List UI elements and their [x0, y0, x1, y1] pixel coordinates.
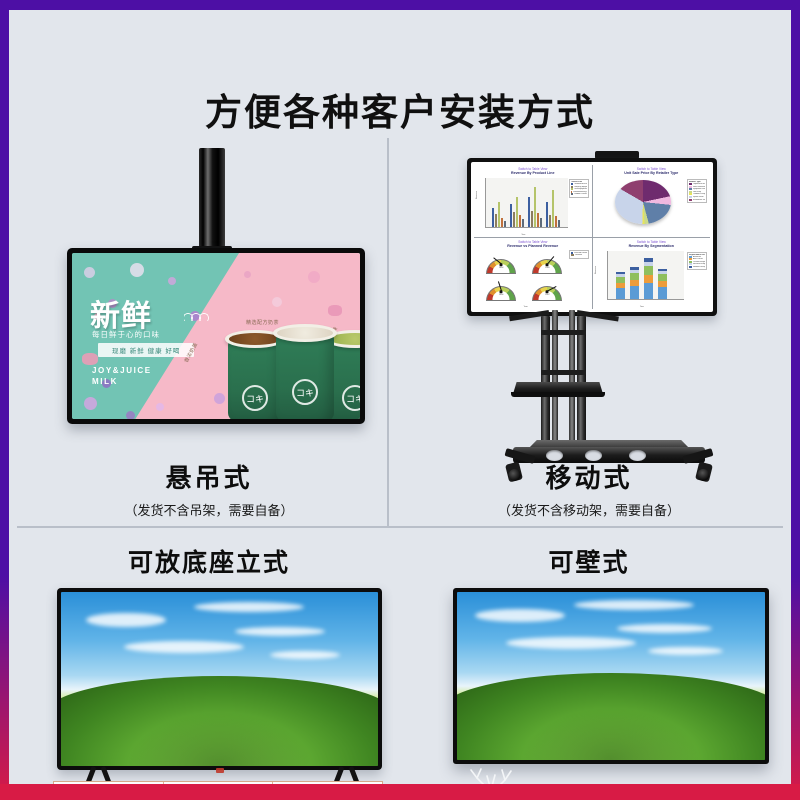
gauge-grid: 2004 2005: [476, 249, 590, 306]
panel-revenue-vs-planned-revenue: Switch to Table View Revenue vs Planned …: [474, 238, 592, 310]
ad-side-note-1: 精选配方奶茶: [246, 319, 279, 326]
cup-logo: コキ: [342, 385, 360, 411]
panel-revenue-by-segmentation: Switch to Table View Revenue By Segmenta…: [593, 238, 711, 310]
cart-crossbar-middle: [541, 370, 586, 375]
cloud-5: [270, 651, 340, 659]
cloud-3: [617, 624, 712, 633]
bar-group: [546, 178, 560, 227]
cloud-2: [574, 600, 694, 610]
x-axis-label-4: Year: [640, 306, 644, 308]
milk-tea-cup: コキ: [228, 341, 282, 419]
legend-label: Southern Europe: [693, 266, 705, 268]
panel-title-1: Revenue By Product Line: [476, 171, 590, 175]
decor-dot-13: [328, 305, 342, 316]
stack-2004: [616, 272, 625, 299]
legend-swatch: [571, 193, 573, 195]
legend-item: Southern Europe: [689, 266, 705, 268]
gauge-hub: [546, 290, 549, 293]
legend-swatch: [571, 254, 574, 256]
cloud-4: [124, 641, 244, 653]
decor-dot-1: [84, 267, 95, 278]
grass-shadow: [124, 710, 314, 766]
label-mobile-cart-note: （发货不含移动架，需要自备）: [409, 500, 769, 519]
wall-mounted-display: [453, 588, 769, 764]
stack-2007: [658, 269, 667, 299]
panel-unit-sale-price-by-retailer-type: Switch to Table View Unit Sale Price By …: [593, 165, 711, 237]
grass-shadow: [519, 706, 704, 760]
cloud-2: [194, 602, 304, 612]
stacked-plot-area: [607, 251, 685, 301]
nature-wallpaper: [457, 592, 765, 760]
gauge-hub: [500, 290, 503, 293]
decor-dot-17: [156, 403, 164, 411]
legend-label: Outdoor Protection: [574, 193, 587, 195]
label-table-stand: 可放底座立式: [59, 543, 359, 579]
decor-dot-16: [126, 411, 135, 419]
cloud-5: [648, 647, 723, 655]
legend-2: Retailer Type Department Store Direct Ma…: [687, 179, 707, 203]
legend-item: Warehouse Store: [689, 199, 705, 201]
segment: [644, 266, 653, 275]
y-axis-label-1: Revenue: [476, 191, 478, 199]
segment: [658, 274, 667, 281]
segment: [630, 273, 639, 280]
legend-3: Planned Revenue Revenue: [569, 250, 589, 259]
legend-4: Segmentation Level 1 Americas Asia Pacif…: [687, 252, 707, 271]
vertical-divider: [387, 138, 389, 526]
bar-chart-1: Revenue Year Product Line Personal Acces…: [476, 176, 590, 233]
bar-chart-plot-area: [485, 178, 568, 228]
poster-root: 方便各种客户安装方式: [0, 0, 800, 800]
gauge-2006: 2006: [479, 276, 523, 301]
page-title: 方便各种客户安装方式: [9, 82, 791, 136]
bar-group: [492, 178, 506, 227]
label-ceiling-hang: 悬吊式 （发货不含吊架，需要自备）: [49, 458, 369, 519]
bar: [558, 220, 560, 227]
x-axis-label-1: Year: [521, 234, 525, 236]
advertisement-screen: 新鲜 每日鲜于心的口味 现磨 新鲜 健康 好喝 JOY&JUICE MILK 精…: [72, 253, 360, 419]
bar: [504, 221, 506, 227]
cart-mounted-display: Switch to Table View Revenue By Product …: [467, 158, 717, 316]
legend-1: Product Line Personal Accessories Campin…: [569, 179, 589, 198]
ad-brand-line1: JOY&JUICE: [92, 366, 152, 375]
pie-slices: [615, 180, 671, 224]
ceiling-mounted-display: 新鲜 每日鲜于心的口味 现磨 新鲜 健康 好喝 JOY&JUICE MILK 精…: [67, 248, 365, 424]
panel-title-2: Unit Sale Price By Retailer Type: [595, 171, 709, 175]
decor-dot-9: [84, 397, 97, 410]
ad-tagline: 现磨 新鲜 健康 好喝: [98, 343, 194, 357]
decor-dot-11: [272, 297, 282, 307]
ad-brand-line2: MILK: [92, 377, 118, 386]
segment: [644, 283, 653, 299]
gauge-2005: 2005: [525, 250, 569, 275]
y-axis-label-4: Revenue: [595, 266, 597, 274]
legend-label: Revenue: [575, 254, 583, 256]
gauge-hub: [546, 263, 549, 266]
footer-band: [0, 784, 800, 800]
gauge-hub: [500, 263, 503, 266]
panel-revenue-by-product-line: Switch to Table View Revenue By Product …: [474, 165, 592, 237]
segment: [644, 275, 653, 283]
stacked-bar-chart: Revenue Year Segmentation Level 1 Americ…: [595, 249, 709, 306]
label-wall-mount-title: 可壁式: [429, 543, 749, 579]
ad-brand: JOY&JUICE MILK: [92, 365, 152, 387]
cup-logo: コキ: [292, 379, 318, 405]
segment: [658, 287, 667, 299]
cloud-1: [86, 613, 166, 627]
label-table-stand-title: 可放底座立式: [59, 543, 359, 579]
bar-group: [528, 178, 542, 227]
legend-swatch: [689, 199, 692, 201]
cloud-1: [475, 609, 565, 622]
gauge-2007: 2007: [525, 276, 569, 301]
gauge-label: 2007: [545, 294, 549, 296]
nut-topping-cup: コキ: [276, 335, 334, 419]
cup-logo: コキ: [242, 385, 268, 411]
cloud-3: [235, 627, 325, 636]
gauge-label: 2004: [499, 267, 503, 269]
stack-2006: [644, 258, 653, 299]
bi-dashboard: Switch to Table View Revenue By Product …: [474, 165, 710, 309]
bar-group: [510, 178, 524, 227]
poster-canvas: 方便各种客户安装方式: [9, 10, 791, 792]
legend-swatch: [689, 266, 692, 268]
ceiling-mount-pole: [199, 148, 225, 258]
label-ceiling-hang-note: （发货不含吊架，需要自备）: [49, 500, 369, 519]
stand-mounted-display: [57, 588, 382, 770]
panel-title-3: Revenue vs Planned Revenue: [476, 244, 590, 248]
pie-chart: Retailer Type Department Store Direct Ma…: [595, 176, 709, 233]
label-mobile-cart-title: 移动式: [409, 458, 769, 495]
cloud-4: [506, 637, 636, 649]
nature-wallpaper: [61, 592, 378, 766]
decor-dot-7: [82, 353, 98, 365]
gauge-label: 2006: [499, 294, 503, 296]
ad-subline: 每日鲜于心的口味: [92, 329, 160, 340]
horizontal-divider: [17, 526, 783, 528]
decor-dot-5: [168, 277, 176, 285]
equipment-shelf-lip: [511, 392, 605, 397]
gauge-2004: 2004: [479, 250, 523, 275]
decor-dot-10: [244, 271, 251, 278]
segment: [616, 288, 625, 299]
legend-item: Outdoor Protection: [571, 193, 587, 195]
stack-2005: [630, 267, 639, 299]
bar: [522, 219, 524, 226]
dashboard-screen: Switch to Table View Revenue By Product …: [471, 162, 713, 312]
label-mobile-cart: 移动式 （发货不含移动架，需要自备）: [409, 458, 769, 519]
segment: [630, 286, 639, 299]
decor-dot-15: [214, 393, 225, 404]
bar: [540, 218, 542, 227]
wave-decor-icon: [184, 309, 214, 321]
decor-dot-2: [130, 263, 144, 277]
x-axis-label-3: Year: [524, 306, 528, 308]
legend-item: Revenue: [571, 254, 587, 256]
decor-dot-12: [308, 271, 320, 283]
cup-fill: [277, 327, 333, 339]
panel-title-4: Revenue By Segmentation: [595, 244, 709, 248]
cart-crossbar-top: [541, 330, 586, 335]
label-wall-mount: 可壁式: [429, 543, 749, 579]
gauge-label: 2005: [545, 267, 549, 269]
tv-brand-logo: [216, 768, 224, 773]
label-ceiling-hang-title: 悬吊式: [49, 458, 369, 495]
legend-label: Warehouse Store: [693, 199, 705, 201]
